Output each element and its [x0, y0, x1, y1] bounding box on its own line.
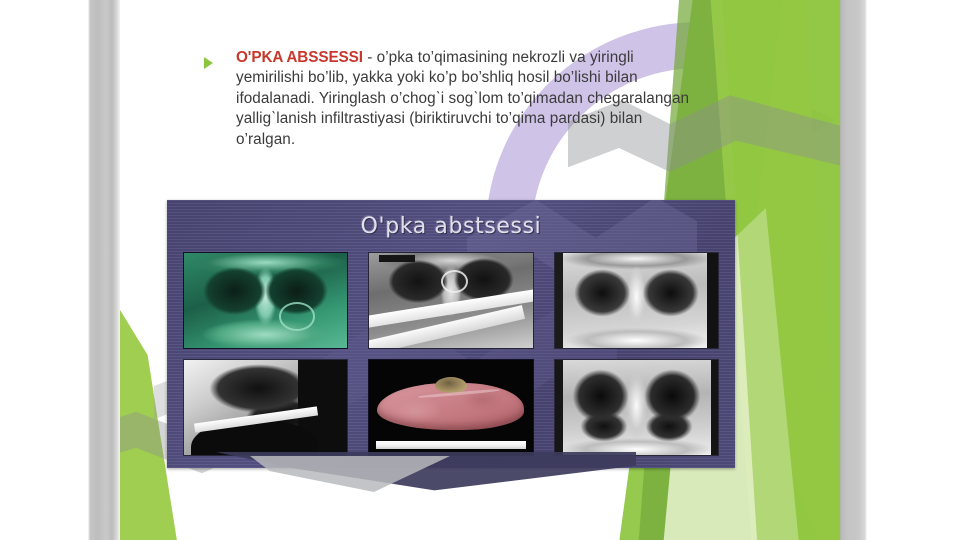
collage-cell-chest-xray-bilateral [554, 359, 719, 456]
left-frame-band [88, 0, 120, 540]
collage-cell-chest-xray-with-white-band [368, 252, 533, 349]
film-edge-left [555, 253, 563, 348]
screenshot-stage: O'PKA ABSSESSI - o’pka to’qimasining nek… [0, 0, 961, 540]
abscess-cavity-marker [441, 270, 468, 293]
chest-radiograph-image [555, 253, 718, 348]
film-label-tag [379, 255, 415, 262]
term-heading: O'PKA ABSSESSI [236, 49, 363, 66]
lavender-arrow-tip-shape [810, 108, 836, 134]
specimen-scale-ruler [376, 441, 526, 450]
collage-cell-green-tinted-chest-xray [183, 252, 348, 349]
bullet-row: O'PKA ABSSESSI - o’pka to’qimasining nek… [204, 48, 704, 150]
film-edge-right [707, 253, 718, 348]
green-triangle-bullet-icon [204, 57, 213, 69]
collage-cell-lateral-chest-xray [183, 359, 348, 456]
slide-canvas: O'PKA ABSSESSI - o’pka to’qimasining nek… [120, 0, 840, 540]
green-wedge-overlay [720, 0, 840, 540]
collage-cell-gross-lung-specimen [368, 359, 533, 456]
collage-cell-chest-xray-frontal [554, 252, 719, 349]
chest-radiograph-image [555, 360, 718, 455]
slide-body-text-block: O'PKA ABSSESSI - o’pka to’qimasining nek… [204, 48, 704, 150]
green-chest-radiograph-image [184, 253, 347, 348]
film-edge-right [711, 360, 718, 455]
right-frame-band [839, 0, 867, 540]
film-edge-left [555, 360, 563, 455]
body-paragraph: O'PKA ABSSESSI - o’pka to’qimasining nek… [204, 48, 704, 150]
medical-image-collage[interactable]: O'pka abstsessi [167, 200, 735, 468]
collage-image-grid [183, 252, 719, 456]
collage-title: O'pka abstsessi [167, 214, 735, 239]
